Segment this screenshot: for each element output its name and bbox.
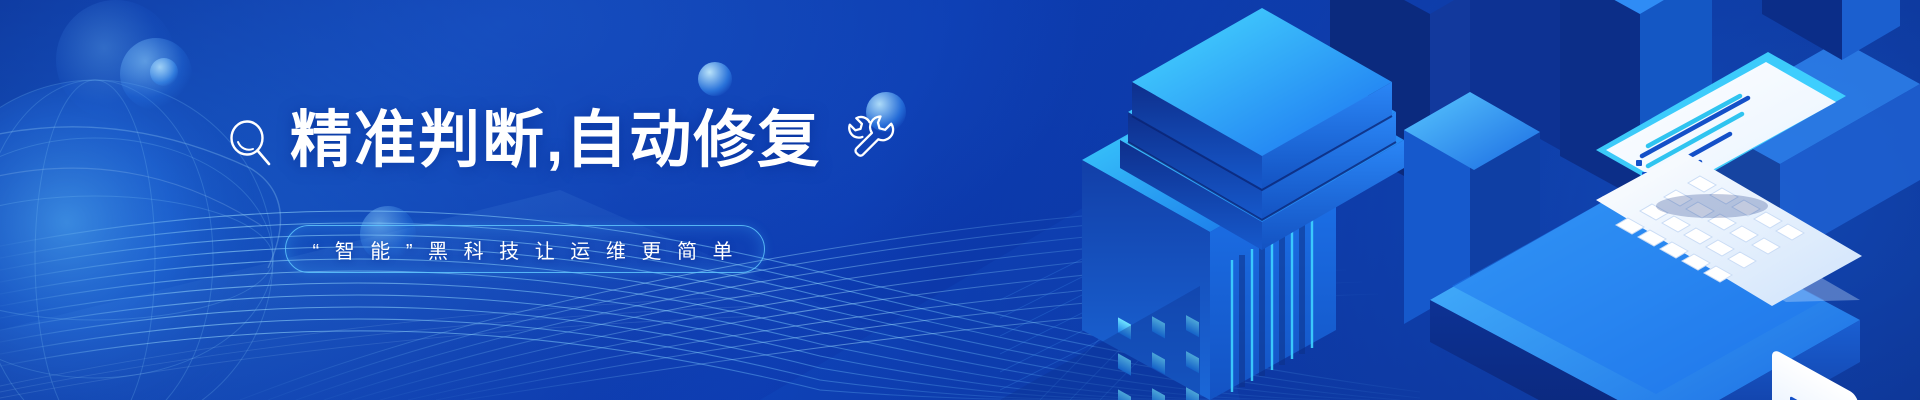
wrench-icon: [847, 110, 899, 167]
subtitle-text: “ 智 能 ” 黑 科 技 让 运 维 更 简 单: [313, 235, 738, 264]
promo-banner: 精准判断,自动修复 “ 智 能 ” 黑 科 技 让 运 维 更 简 单: [0, 0, 1920, 400]
magnifier-icon: [228, 117, 274, 172]
headline-group: 精准判断,自动修复: [228, 96, 1028, 186]
headline-title: 精准判断,自动修复: [290, 110, 821, 172]
isometric-illustration: [1000, 0, 1920, 400]
subtitle-pill: “ 智 能 ” 黑 科 技 让 运 维 更 简 单: [285, 225, 765, 273]
